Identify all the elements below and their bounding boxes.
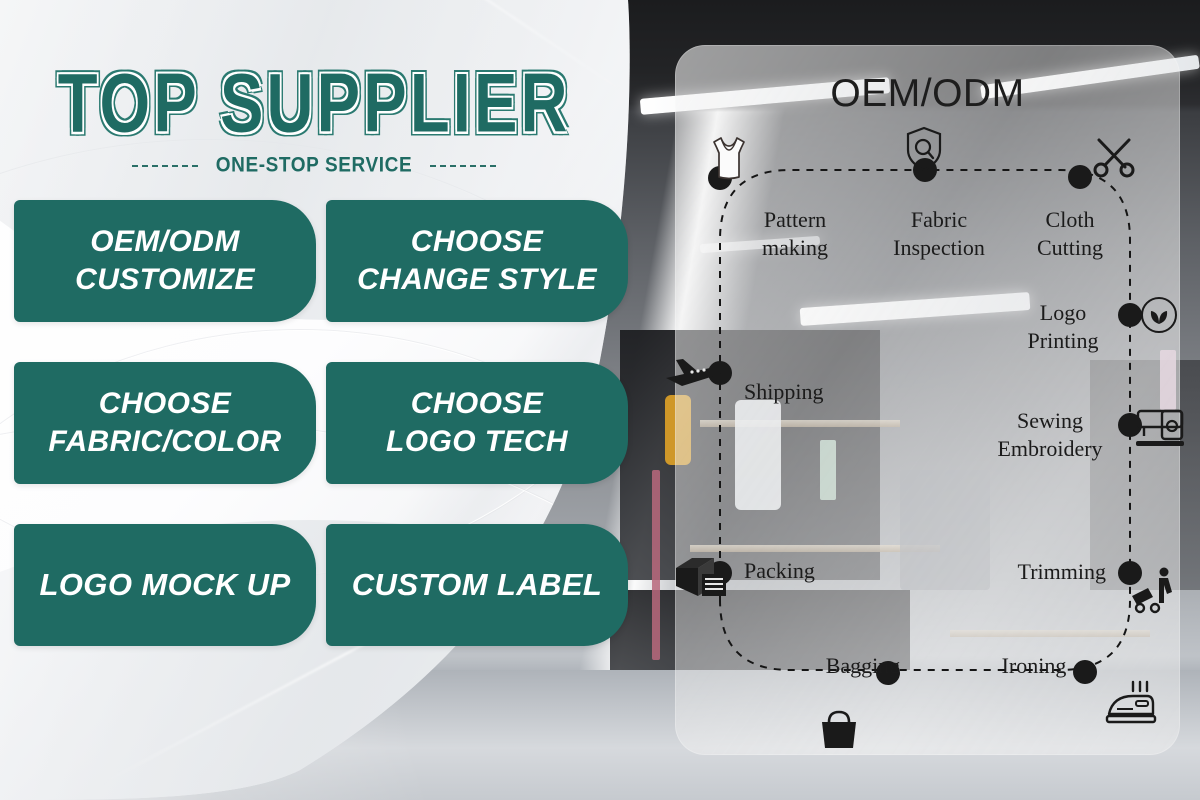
step-trimming-label: Trimming xyxy=(960,558,1106,586)
step-sewing-embroidery-label: Sewing Embroidery xyxy=(972,407,1128,462)
pill-logo-mock-up[interactable]: LOGO MOCK UP xyxy=(14,524,316,646)
pill-label: LOGO MOCK UP xyxy=(39,565,290,605)
dashed-rule-right-icon xyxy=(430,165,496,167)
pill-choose-logo-tech[interactable]: CHOOSE LOGO TECH xyxy=(326,362,628,484)
iron-icon xyxy=(1103,678,1157,728)
step-fabric-inspection-label: Fabric Inspection xyxy=(866,206,1012,261)
shield-search-icon xyxy=(904,126,944,172)
pill-choose-fabric-color[interactable]: CHOOSE FABRIC/COLOR xyxy=(14,362,316,484)
step-packing-label: Packing xyxy=(744,557,864,585)
page-subtitle: ONE-STOP SERVICE xyxy=(216,154,413,179)
step-logo-printing-label: Logo Printing xyxy=(1002,299,1124,354)
pill-custom-label[interactable]: CUSTOM LABEL xyxy=(326,524,628,646)
scissors-icon xyxy=(1092,136,1136,178)
airplane-icon xyxy=(664,352,724,392)
step-shipping-label: Shipping xyxy=(744,378,864,406)
pill-label: CHOOSE FABRIC/COLOR xyxy=(48,385,281,462)
poster-canvas: TOP SUPPLIER ONE-STOP SERVICE OEM/ODM CU… xyxy=(0,0,1200,800)
subtitle-row: ONE-STOP SERVICE xyxy=(0,155,628,177)
step-bagging-label: Bagging xyxy=(808,652,918,680)
sewing-machine-icon xyxy=(1132,403,1188,453)
step-ironing-label: Ironing xyxy=(975,652,1093,680)
pill-label: CHOOSE LOGO TECH xyxy=(386,385,568,462)
garment-rack-pink xyxy=(652,470,660,660)
page-title: TOP SUPPLIER xyxy=(58,56,571,152)
handbag-icon xyxy=(816,706,862,752)
step-pattern-making-label: Pattern making xyxy=(742,206,848,261)
dashed-rule-left-icon xyxy=(132,165,198,167)
pill-oem-odm-customize[interactable]: OEM/ODM CUSTOMIZE xyxy=(14,200,316,322)
carton-box-icon xyxy=(672,552,730,602)
pill-choose-change-style[interactable]: CHOOSE CHANGE STYLE xyxy=(326,200,628,322)
flow-node-cloth-cutting xyxy=(1068,165,1092,189)
worker-cart-icon xyxy=(1128,566,1180,614)
pill-label: CUSTOM LABEL xyxy=(352,565,603,605)
service-pill-grid: OEM/ODM CUSTOMIZE CHOOSE CHANGE STYLE CH… xyxy=(14,200,628,646)
leaf-circle-icon xyxy=(1139,295,1179,335)
pill-label: OEM/ODM CUSTOMIZE xyxy=(75,223,255,300)
step-cloth-cutting-label: Cloth Cutting xyxy=(1012,206,1128,261)
tank-top-icon xyxy=(708,133,750,181)
pill-label: CHOOSE CHANGE STYLE xyxy=(357,223,597,300)
page-title-block: TOP SUPPLIER xyxy=(0,56,628,127)
